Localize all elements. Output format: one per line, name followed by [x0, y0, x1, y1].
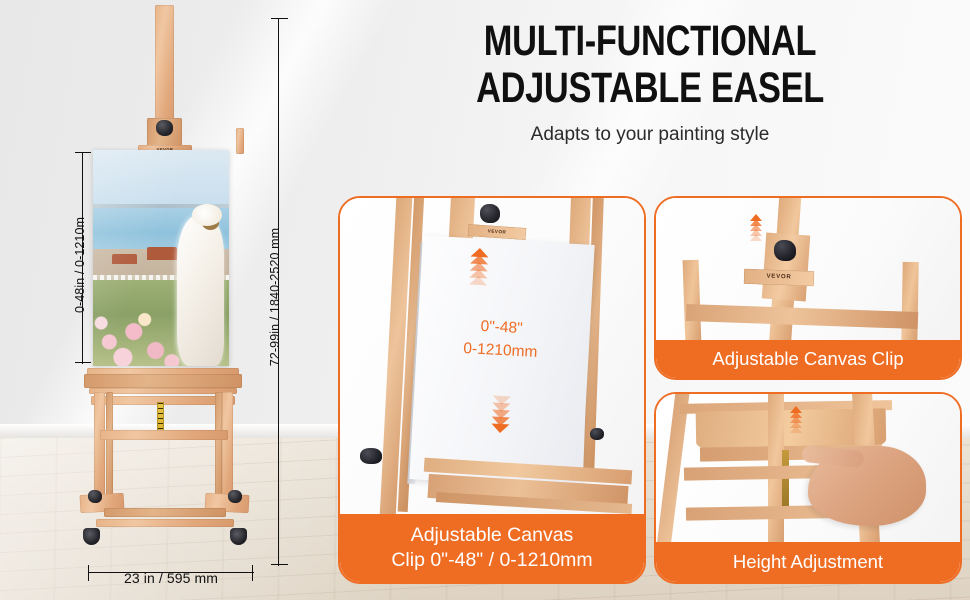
canvas-clip-bar: VEVOR: [744, 269, 814, 286]
foot-knob-left-icon: [88, 490, 102, 503]
easel-leg-left: [683, 260, 702, 344]
easel-crossbar-lower: [100, 430, 228, 440]
page-title-line1: MULTI-FUNCTIONAL: [402, 18, 898, 65]
caster-wheel-right-icon: [230, 528, 247, 545]
feature-caption-clip-detail: Adjustable Canvas Clip: [656, 340, 960, 378]
canvas-range-overlay: 0"-48" 0-1210mm: [425, 312, 577, 366]
easel-leg-left-inner: [106, 392, 113, 500]
feature-caption-height-adjustment: Height Adjustment: [656, 542, 960, 582]
painting-glaze-highlight: [93, 150, 229, 366]
dimension-label-overall-height: 72-99in / 1840-2520 mm: [268, 228, 282, 366]
arrow-up-icon: [469, 248, 489, 284]
easel-base-bar: [104, 508, 226, 517]
caster-wheel-left-icon: [83, 528, 100, 545]
easel-base-bar-front: [96, 519, 234, 527]
caption-line-1: Height Adjustment: [733, 551, 883, 573]
arrow-down-icon: [491, 396, 511, 432]
header-block: MULTI-FUNCTIONAL ADJUSTABLE EASEL Adapts…: [340, 18, 960, 146]
easel-leg-right: [222, 392, 233, 502]
arrow-up-down-icon: [790, 406, 802, 431]
foot-knob-right-icon: [228, 490, 242, 503]
page-title-line2: ADJUSTABLE EASEL: [402, 65, 898, 112]
feature-caption-canvas-clip: Adjustable Canvas Clip 0"-48" / 0-1210mm: [340, 514, 644, 582]
feature-photo-canvas-clip: VEVOR 0"-48" 0-1210mm: [340, 198, 644, 516]
feature-card-canvas-clip-detail[interactable]: VEVOR Adjustable Canvas Clip: [654, 196, 962, 380]
vevor-brand-label: VEVOR: [744, 269, 814, 286]
canvas-painting: [93, 150, 229, 366]
easel-leg-left: [94, 392, 105, 502]
feature-photo-clip-detail: VEVOR: [656, 198, 960, 344]
dimension-label-canvas-height: 0-48in / 0-1210m: [73, 217, 87, 313]
feature-photo-height-adjustment: [656, 394, 960, 546]
side-lock-knob-icon: [360, 448, 382, 464]
dimension-label-base-width: 23 in / 595 mm: [88, 570, 254, 586]
page-subtitle: Adapts to your painting style: [340, 124, 960, 146]
feature-card-adjustable-canvas-clip[interactable]: VEVOR 0"-48" 0-1210mm Adjustable Canvas …: [338, 196, 646, 584]
easel-leg-right-inner: [215, 392, 222, 500]
caption-line-1: Adjustable Canvas Clip: [712, 348, 903, 370]
easel-canvas-tray-front: [84, 374, 242, 388]
tightening-knob-icon: [156, 120, 173, 136]
tightening-knob-icon: [774, 240, 796, 261]
caption-line-2: Clip 0"-48" / 0-1210mm: [391, 548, 592, 573]
easel-leg-right: [901, 262, 918, 344]
feature-card-height-adjustment[interactable]: Height Adjustment: [654, 392, 962, 584]
arrow-up-down-icon: [750, 214, 762, 239]
side-lock-knob-right-icon: [590, 428, 604, 440]
caption-line-1: Adjustable Canvas: [411, 523, 574, 548]
easel-mast: [155, 5, 174, 133]
product-infographic: VEVOR: [0, 0, 970, 600]
easel-side-peg: [236, 128, 244, 154]
tightening-knob-icon: [480, 204, 500, 223]
